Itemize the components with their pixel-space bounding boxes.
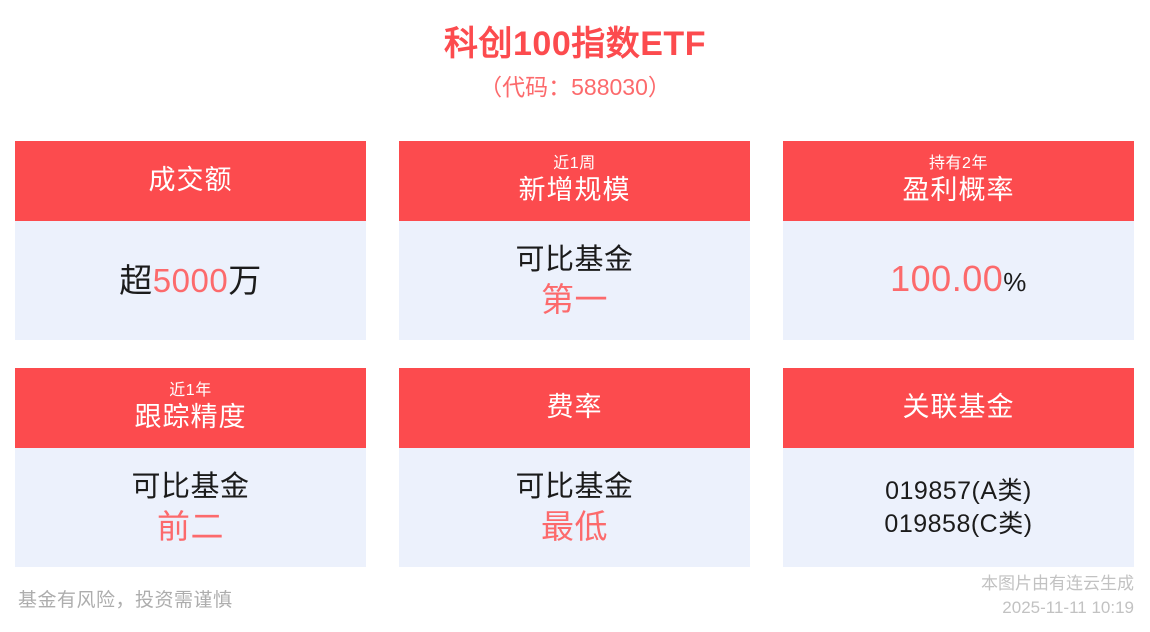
card-body-tracking-accuracy: 可比基金 前二 — [15, 448, 366, 567]
tracking-accuracy-rank: 前二 — [157, 506, 224, 548]
linked-fund-code-a: 019857(A类) — [885, 475, 1032, 508]
card-body-profit-probability: 100.00% — [783, 221, 1134, 340]
profit-probability-value: 100.00 — [890, 258, 1003, 299]
metric-card-grid: 成交额 超5000万 近1周 新增规模 可比基金 第一 持有2年 盈利概率 — [15, 141, 1135, 567]
generator-credit: 本图片由有连云生成 2025-11-11 10:19 — [981, 572, 1134, 620]
page-title: 科创100指数ETF — [0, 22, 1150, 66]
card-header-subtitle: 持有2年 — [929, 155, 988, 174]
profit-probability-value-line: 100.00% — [890, 258, 1027, 303]
metric-card-linked-funds: 关联基金 019857(A类) 019858(C类) — [783, 368, 1134, 567]
card-header-tracking-accuracy: 近1年 跟踪精度 — [15, 368, 366, 448]
card-body-turnover: 超5000万 — [15, 221, 366, 340]
turnover-amount: 5000 — [153, 262, 228, 299]
metric-card-tracking-accuracy: 近1年 跟踪精度 可比基金 前二 — [15, 368, 366, 567]
fund-code-subtitle: （代码：588030） — [0, 72, 1150, 102]
card-header-subtitle: 近1年 — [169, 382, 211, 401]
risk-disclaimer: 基金有风险，投资需谨慎 — [18, 585, 233, 612]
card-header-profit-probability: 持有2年 盈利概率 — [783, 141, 1134, 221]
card-header-subtitle: 近1周 — [553, 155, 595, 174]
fee-rate-label: 可比基金 — [515, 468, 633, 506]
turnover-unit: 万 — [228, 262, 262, 299]
card-header-title: 盈利概率 — [903, 175, 1015, 207]
card-header-title: 费率 — [547, 392, 603, 424]
percent-sign: % — [1003, 267, 1027, 297]
card-body-fee-rate: 可比基金 最低 — [399, 448, 750, 567]
card-header-linked-funds: 关联基金 — [783, 368, 1134, 448]
metric-card-profit-probability: 持有2年 盈利概率 100.00% — [783, 141, 1134, 340]
card-header-turnover: 成交额 — [15, 141, 366, 221]
etf-infographic-page: 科创100指数ETF （代码：588030） 成交额 超5000万 近1周 新增… — [0, 0, 1150, 632]
card-header-fee-rate: 费率 — [399, 368, 750, 448]
page-header: 科创100指数ETF （代码：588030） — [0, 0, 1150, 102]
card-body-linked-funds: 019857(A类) 019858(C类) — [783, 448, 1134, 567]
fee-rate-rank: 最低 — [541, 506, 608, 548]
turnover-prefix: 超 — [119, 262, 153, 299]
metric-card-new-scale: 近1周 新增规模 可比基金 第一 — [399, 141, 750, 340]
card-header-title: 新增规模 — [519, 175, 631, 207]
linked-fund-code-c: 019858(C类) — [884, 508, 1032, 541]
metric-card-fee-rate: 费率 可比基金 最低 — [399, 368, 750, 567]
new-scale-label: 可比基金 — [515, 241, 633, 279]
turnover-value-line: 超5000万 — [119, 260, 261, 302]
card-header-title: 关联基金 — [903, 392, 1015, 424]
new-scale-rank: 第一 — [541, 279, 608, 321]
card-body-new-scale: 可比基金 第一 — [399, 221, 750, 340]
card-header-title: 跟踪精度 — [135, 402, 247, 434]
generator-source: 本图片由有连云生成 — [981, 572, 1134, 596]
tracking-accuracy-label: 可比基金 — [131, 468, 249, 506]
card-header-new-scale: 近1周 新增规模 — [399, 141, 750, 221]
generated-timestamp: 2025-11-11 10:19 — [981, 596, 1134, 620]
card-header-title: 成交额 — [149, 165, 233, 197]
metric-card-turnover: 成交额 超5000万 — [15, 141, 366, 340]
